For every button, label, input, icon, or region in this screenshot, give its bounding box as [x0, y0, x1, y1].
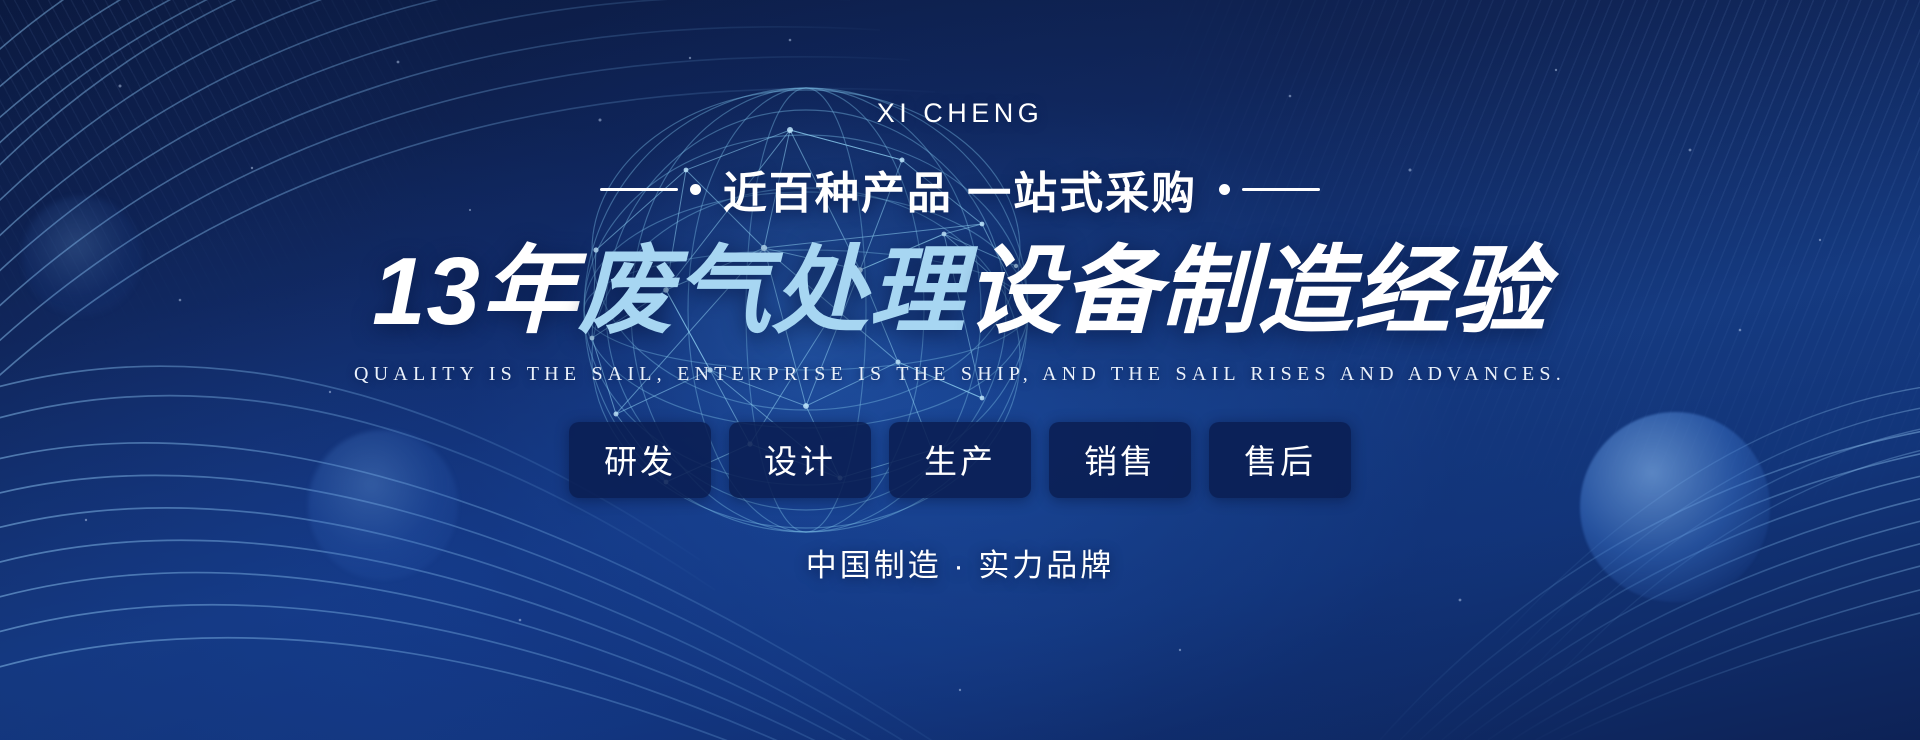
headline-accent: 废气处理	[578, 238, 966, 345]
banner-headline: 13年废气处理设备制造经验	[372, 239, 1548, 345]
service-pill-production[interactable]: 生产	[889, 422, 1031, 498]
deco-bar-right	[1242, 188, 1320, 191]
deco-dot-left	[690, 184, 701, 195]
brand-name-english: XI CHENG	[877, 98, 1044, 129]
service-pill-row: 研发 设计 生产 销售 售后	[569, 422, 1351, 498]
banner-footnote: 中国制造 · 实力品牌	[806, 540, 1115, 585]
banner-subtitle: 近百种产品 一站式采购	[723, 157, 1197, 221]
decorative-line-right	[1219, 184, 1320, 195]
service-pill-rd[interactable]: 研发	[569, 422, 711, 498]
english-tagline: QUALITY IS THE SAIL, ENTERPRISE IS THE S…	[354, 363, 1566, 386]
service-pill-design[interactable]: 设计	[729, 422, 871, 498]
service-pill-aftersales[interactable]: 售后	[1209, 422, 1351, 498]
headline-suffix: 设备制造经验	[966, 238, 1548, 345]
promo-banner: XI CHENG 近百种产品 一站式采购 13年废气处理设备制造经验 QUALI…	[0, 0, 1920, 740]
deco-bar-left	[600, 188, 678, 191]
headline-prefix: 13年	[372, 238, 578, 345]
banner-content: XI CHENG 近百种产品 一站式采购 13年废气处理设备制造经验 QUALI…	[0, 0, 1920, 740]
service-pill-sales[interactable]: 销售	[1049, 422, 1191, 498]
deco-dot-right	[1219, 184, 1230, 195]
decorative-line-left	[600, 184, 701, 195]
subtitle-row: 近百种产品 一站式采购	[600, 157, 1320, 221]
